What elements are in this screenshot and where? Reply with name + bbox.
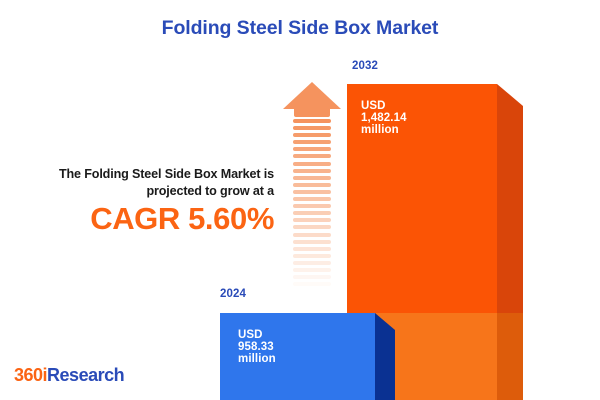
arrow-stripe xyxy=(293,190,331,194)
arrow-stripe xyxy=(293,147,331,151)
arrow-stripe xyxy=(293,204,331,208)
bar-2032-value-label: USD 1,482.14 million xyxy=(361,100,407,136)
arrow-stripe xyxy=(293,233,331,237)
arrow-stripe xyxy=(293,268,331,272)
arrow-stripe xyxy=(293,183,331,187)
arrow-stripe xyxy=(293,176,331,180)
cagr-statement-line-1: The Folding Steel Side Box Market is xyxy=(8,166,274,183)
arrow-stripe xyxy=(293,261,331,265)
cagr-value: CAGR 5.60% xyxy=(8,203,274,236)
bar-2032-side-face xyxy=(497,84,523,400)
bar-2032-side-lower xyxy=(497,313,523,400)
arrow-head-neck xyxy=(294,108,330,117)
bar-2024-year-label: 2024 xyxy=(220,288,246,300)
arrow-stripe xyxy=(293,197,331,201)
up-arrow-icon xyxy=(283,82,341,292)
arrow-head-icon xyxy=(283,82,341,116)
arrow-stripe xyxy=(293,119,331,123)
arrow-stripe xyxy=(293,289,331,293)
brand-logo-suffix: Research xyxy=(47,365,124,385)
arrow-stripe xyxy=(293,140,331,144)
arrow-stripe xyxy=(293,154,331,158)
bar-2032-year-label: 2032 xyxy=(352,60,378,72)
bar-2032-side-upper xyxy=(497,84,523,313)
arrow-stripe xyxy=(293,247,331,251)
cagr-statement: The Folding Steel Side Box Market is pro… xyxy=(8,166,274,199)
arrow-stripe xyxy=(293,254,331,258)
arrow-stripe xyxy=(293,169,331,173)
arrow-stripe xyxy=(293,126,331,130)
bar-2024-value-label: USD 958.33 million xyxy=(238,329,276,365)
cagr-statement-line-2: projected to grow at a xyxy=(8,183,274,200)
brand-logo: 360iResearch xyxy=(14,365,124,386)
arrow-shaft-stripes xyxy=(293,119,331,292)
arrow-stripe xyxy=(293,240,331,244)
arrow-stripe xyxy=(293,282,331,286)
arrow-stripe xyxy=(293,218,331,222)
cagr-callout: The Folding Steel Side Box Market is pro… xyxy=(8,166,274,236)
arrow-stripe xyxy=(293,275,331,279)
arrow-stripe xyxy=(293,225,331,229)
arrow-stripe xyxy=(293,133,331,137)
arrow-head-triangle xyxy=(283,82,341,109)
page-title: Folding Steel Side Box Market xyxy=(0,17,600,40)
brand-logo-prefix: 360i xyxy=(14,365,47,385)
infographic-canvas: Folding Steel Side Box Market The Foldin… xyxy=(0,0,600,400)
arrow-stripe xyxy=(293,162,331,166)
arrow-stripe xyxy=(293,211,331,215)
